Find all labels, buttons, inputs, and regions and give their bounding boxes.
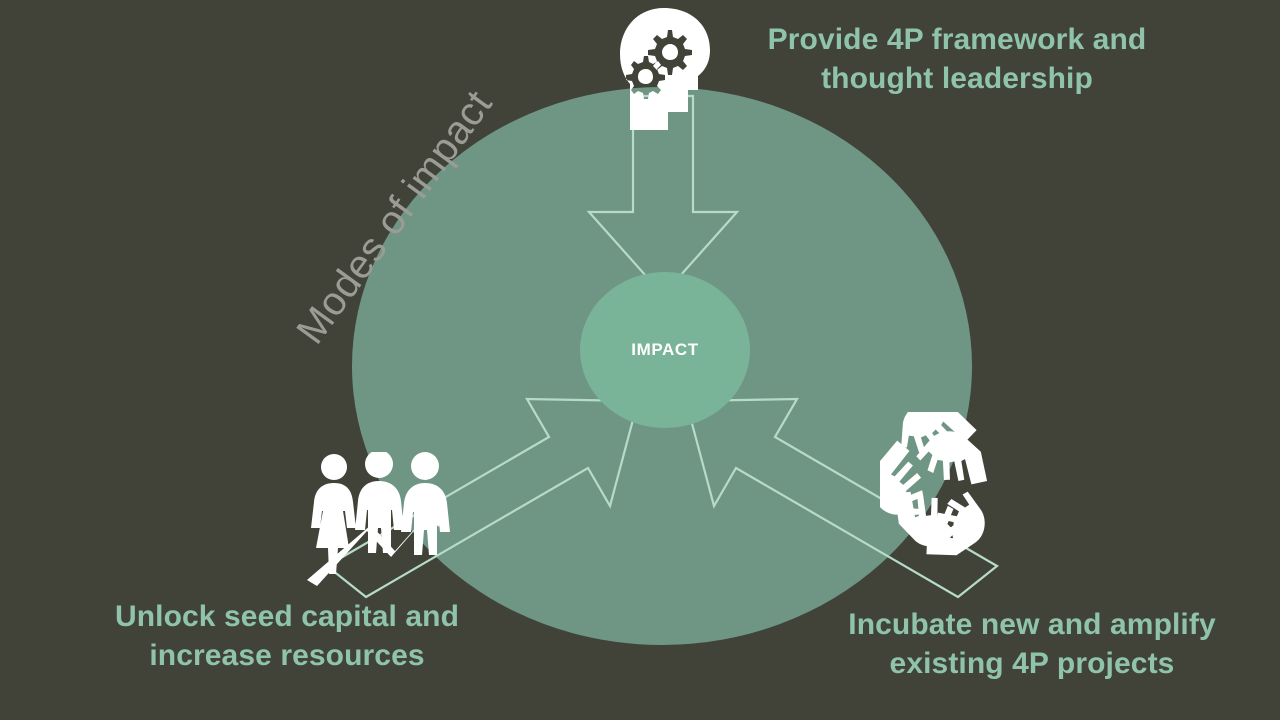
impact-center-label: IMPACT [565, 340, 765, 360]
five-hands-icon [880, 412, 1026, 568]
people-growth-arrow-icon [305, 452, 473, 586]
callout-bottom-left-text: Unlock seed capital and increase resourc… [62, 597, 512, 675]
slide-canvas: Modes of impact IMPACT Provide 4P framew… [0, 0, 1280, 720]
callout-top-text: Provide 4P framework and thought leaders… [712, 20, 1202, 98]
callout-bottom-right-text: Incubate new and amplify existing 4P pro… [806, 605, 1258, 683]
head-with-gears-icon [612, 4, 716, 130]
